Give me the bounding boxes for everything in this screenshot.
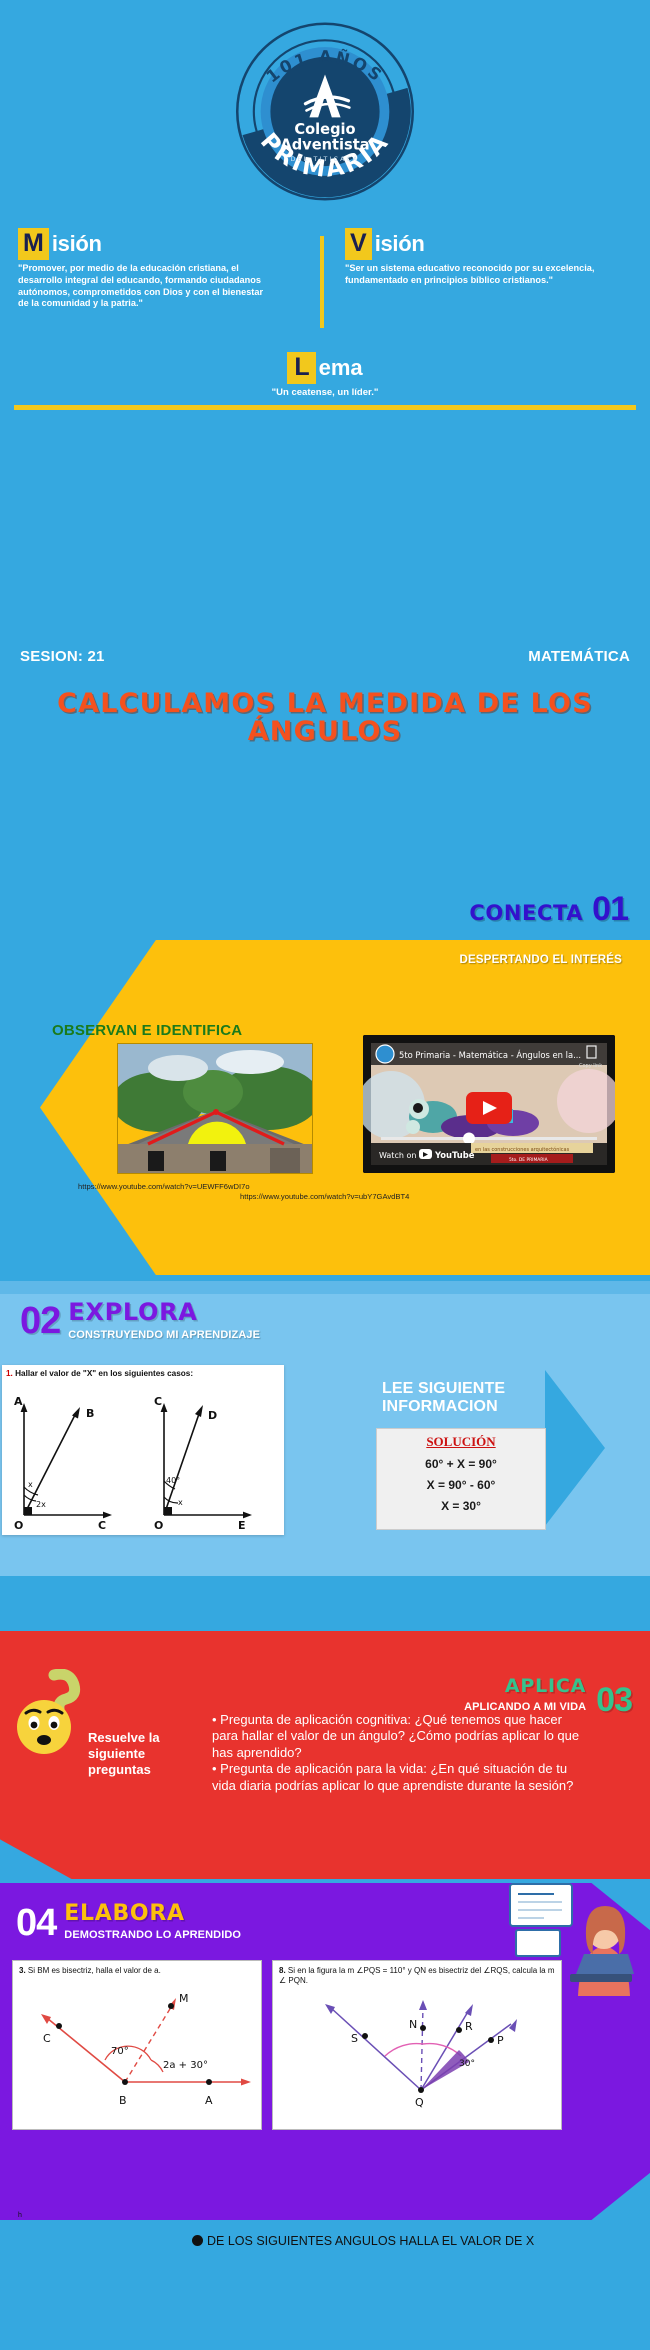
conecta-subtitle: OBSERVAN E IDENTIFICA: [52, 1022, 242, 1039]
page-title: CALCULAMOS LA MEDIDA DE LOS ÁNGULOS: [0, 690, 650, 745]
logo-brand-line1: Colegio: [294, 121, 355, 138]
infographic-page: 101 AÑOS PRIMARIA Colegio Adventista DEL…: [0, 0, 650, 2350]
elabora-bottom-note-text: DE LOS SIGUIENTES ANGULOS HALLA EL VALOR…: [207, 2234, 534, 2248]
lema-heading-rest: ema: [319, 355, 363, 381]
aplica-bullet-2: • Pregunta de aplicación para la vida: ¿…: [212, 1761, 587, 1794]
exercise-b-label-s: S: [351, 2032, 358, 2045]
youtube-brand-label: YouTube: [434, 1150, 475, 1160]
video-overlay-badge: 5to. DE PRIMARIA: [509, 1157, 548, 1163]
mission-vision-divider: [320, 236, 324, 328]
exercise-b-label-p: P: [497, 2034, 504, 2047]
exercise-b-index: 8.: [279, 1966, 286, 1975]
roof-angle-image: [117, 1043, 313, 1174]
mission-heading-rest: isión: [52, 231, 102, 257]
gold-divider-rule: [14, 405, 636, 410]
elabora-word: ELABORA: [64, 1901, 184, 1926]
elabora-bottom-note: DE LOS SIGUIENTES ANGULOS HALLA EL VALOR…: [192, 2233, 552, 2249]
exercise-a-text: Si BM es bisectriz, halla el valor de a.: [28, 1966, 161, 1975]
bullet-dot-icon: [192, 2235, 203, 2246]
aplica-word: APLICA: [505, 1675, 586, 1697]
mission-vision-block: M isión "Promover, por medio de la educa…: [0, 228, 650, 348]
mission-block: M isión "Promover, por medio de la educa…: [18, 228, 268, 310]
exercise-b-label-n: N: [409, 2018, 417, 2031]
exercise-a-prompt: 3. Si BM es bisectriz, halla el valor de…: [13, 1961, 261, 1976]
aplica-heading: APLICA APLICANDO A MI VIDA 03: [464, 1677, 632, 1715]
school-logo: 101 AÑOS PRIMARIA Colegio Adventista DEL…: [0, 14, 650, 209]
exercise-b-prompt: 8. Si en la figura la m ∠PQS = 110° y QN…: [273, 1961, 561, 1986]
exercise-a-figure: C M B A 70° 2a + 30°: [13, 1976, 262, 2116]
aplica-left-label: Resuelve la siguiente preguntas: [88, 1730, 198, 1778]
vision-text: "Ser un sistema educativo reconocido por…: [345, 263, 595, 287]
conecta-number: 01: [592, 890, 628, 929]
explora-word: EXPLORA: [68, 1298, 197, 1326]
youtube-video-card[interactable]: 5to Primaria - Matemática - Ángulos en l…: [363, 1035, 615, 1173]
vision-badge-letter: V: [345, 228, 372, 260]
diagram1-angle-upper: x: [28, 1480, 33, 1489]
watch-on-label: Watch on: [379, 1151, 416, 1160]
aplica-questions: • Pregunta de aplicación cognitiva: ¿Qué…: [212, 1712, 587, 1794]
exercise-b-figure: S N R P Q 30°: [273, 1986, 562, 2108]
explora-number: 02: [20, 1303, 60, 1339]
elabora-exercise-card-a: 3. Si BM es bisectriz, halla el valor de…: [12, 1960, 262, 2130]
video-title: 5to Primaria - Matemática - Ángulos en l…: [399, 1049, 581, 1060]
mission-badge-letter: M: [18, 228, 49, 260]
video-overlay-line: en las construcciones arquitectónicas: [475, 1146, 570, 1153]
conecta-word: CONECTA: [469, 901, 583, 925]
diagram2-vertex: O: [154, 1519, 163, 1532]
diagram1-vertex: O: [14, 1519, 23, 1532]
vision-block: V isión "Ser un sistema educativo recono…: [345, 228, 595, 287]
explora-subtitle: CONSTRUYENDO MI APRENDIZAJE: [68, 1329, 260, 1341]
vision-heading-rest: isión: [375, 231, 425, 257]
video-b-url[interactable]: https://www.youtube.com/watch?v=ubY7GAvd…: [240, 1192, 409, 1201]
logo-brand-line3: DEL TITICACA: [291, 156, 360, 163]
subject-label: MATEMÁTICA: [528, 648, 630, 665]
diagram1-label-right: C: [98, 1519, 106, 1532]
explora-heading: 02 EXPLORA CONSTRUYENDO MI APRENDIZAJE: [20, 1300, 260, 1343]
aplica-number: 03: [596, 1687, 632, 1715]
exercise-a-angle-expr: 2a + 30°: [163, 2060, 208, 2071]
elabora-heading: 04 ELABORA DEMOSTRANDO LO APRENDIDO: [16, 1903, 241, 1943]
explora-prompt: 1. Hallar el valor de "X" en los siguien…: [6, 1369, 281, 1378]
conecta-banner-text: DESPERTANDO EL INTERÉS: [460, 954, 622, 966]
vision-heading: V isión: [345, 228, 595, 260]
elabora-subtitle: DEMOSTRANDO LO APRENDIDO: [64, 1929, 241, 1941]
elabora-exercise-card-b: 8. Si en la figura la m ∠PQS = 110° y QN…: [272, 1960, 562, 2130]
elabora-number: 04: [16, 1905, 56, 1941]
exercise-b-label-r: R: [465, 2020, 473, 2033]
lema-heading: L ema: [287, 352, 362, 384]
stray-character: h: [18, 2212, 22, 2219]
diagram2-angle-lower: x: [178, 1498, 183, 1507]
explora-prompt-index: 1.: [6, 1369, 13, 1378]
diagram1-label-diag: B: [86, 1407, 94, 1420]
solution-card: SOLUCIÓN 60° + X = 90° X = 90° - 60° X =…: [376, 1428, 546, 1530]
exercise-a-label-c: C: [43, 2032, 51, 2045]
solution-title: SOLUCIÓN: [377, 1434, 545, 1450]
exercise-a-index: 3.: [19, 1966, 26, 1975]
exercise-b-angle-known: 30°: [459, 2059, 475, 2069]
diagram1-angle-lower: 2x: [36, 1500, 46, 1509]
solution-line-2: X = 90° - 60°: [377, 1478, 545, 1492]
video-a-url[interactable]: https://www.youtube.com/watch?v=UEWFF6wD…: [78, 1182, 250, 1191]
lema-badge-letter: L: [287, 352, 315, 384]
diagram2-label-right: E: [238, 1519, 246, 1532]
exercise-b-label-q: Q: [415, 2096, 424, 2108]
copy-link-label[interactable]: Copy link: [579, 1063, 602, 1069]
mission-heading: M isión: [18, 228, 268, 260]
solution-line-3: X = 30°: [377, 1499, 545, 1513]
mission-text: "Promover, por medio de la educación cri…: [18, 263, 268, 310]
logo-brand-line2: Adventista: [280, 137, 369, 154]
exercise-a-angle-known: 70°: [111, 2046, 129, 2057]
lee-info-heading: LEE SIGUIENTE INFORMACION: [382, 1380, 562, 1416]
diagram2-label-up: C: [154, 1395, 162, 1408]
solution-line-1: 60° + X = 90°: [377, 1457, 545, 1471]
exercise-a-label-a: A: [205, 2094, 213, 2107]
exercise-a-label-b: B: [119, 2094, 127, 2107]
explora-prompt-text: Hallar el valor de "X" en los siguientes…: [15, 1369, 193, 1378]
aplica-bullet-1: • Pregunta de aplicación cognitiva: ¿Qué…: [212, 1712, 587, 1761]
diagram2-angle-upper: 40°: [166, 1476, 180, 1485]
exercise-b-text: Si en la figura la m ∠PQS = 110° y QN es…: [279, 1966, 555, 1985]
lema-text: "Un ceatense, un líder.": [0, 387, 650, 398]
conecta-heading: CONECTA 01: [469, 890, 628, 929]
diagram1-label-up: A: [14, 1395, 23, 1408]
exercise-a-label-m: M: [179, 1992, 189, 2005]
explora-angle-diagrams: A B C O C D E O x 2x 40° x: [2, 1383, 282, 1535]
diagram2-label-diag: D: [208, 1409, 217, 1422]
lema-block: L ema "Un ceatense, un líder.": [0, 352, 650, 398]
session-label: SESION: 21: [20, 648, 105, 665]
question-emoji-icon: [12, 1669, 97, 1754]
